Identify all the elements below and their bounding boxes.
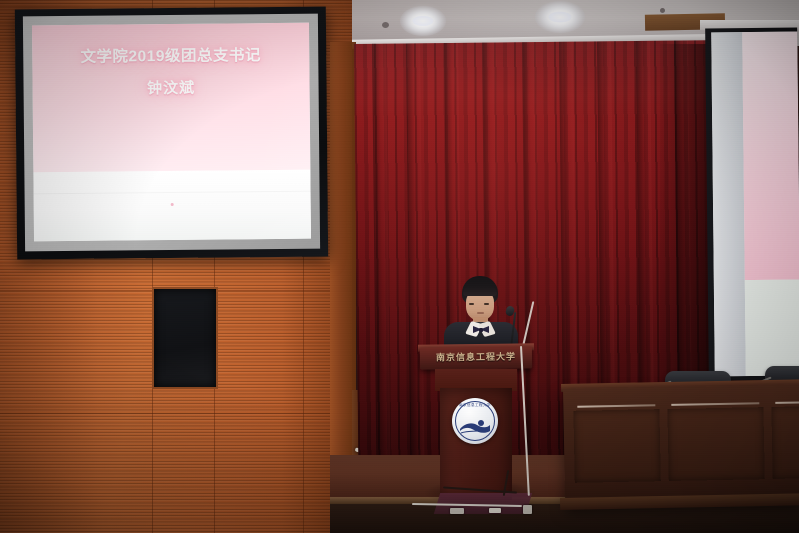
bench-panel (771, 405, 799, 479)
power-strip[interactable] (450, 508, 464, 514)
eye-right (484, 303, 489, 305)
auditorium-photo: 文学院2019级团总支书记 钟汶斌 (0, 0, 799, 533)
slide-text: 文学院2019级团总支书记 钟汶斌 (32, 46, 309, 99)
projection-screen-secondary (705, 28, 799, 381)
bench-panel (573, 409, 660, 483)
wall-access-panel (152, 287, 218, 389)
light-core (549, 12, 572, 23)
head-table-bench (563, 384, 799, 507)
slide-name-line: 钟汶斌 (32, 76, 309, 100)
screen-border-band (711, 32, 746, 376)
adapter-block[interactable] (489, 508, 501, 513)
slide-bottom-band-secondary (745, 279, 799, 376)
bow-tie (473, 326, 489, 333)
emblem-year: 1960 (478, 428, 486, 432)
hair-fringe (463, 286, 497, 296)
projection-screen-main: 文学院2019级团总支书记 钟汶斌 (15, 7, 328, 260)
slide-title-line: 文学院2019级团总支书记 (32, 46, 309, 67)
ceiling-light-right (535, 1, 585, 33)
emblem-wave-icon (459, 418, 491, 435)
slide-top-band-secondary (742, 32, 799, 280)
ceiling-light-left (400, 6, 446, 36)
emblem-arc-text: 南京信息工程大学 (452, 403, 498, 408)
screen-inner-frame: 文学院2019级团总支书记 钟汶斌 (23, 14, 320, 252)
ceiling-sensor (660, 8, 665, 13)
screen-surface: 文学院2019级团总支书记 钟汶斌 (32, 23, 311, 242)
mouth (477, 312, 484, 314)
eye-left (469, 303, 474, 305)
podium-institution-label: 南京信息工程大学 (424, 349, 528, 363)
light-core (412, 16, 433, 26)
university-emblem: 南京信息工程大学 1960 (452, 398, 498, 444)
plug-connector[interactable] (523, 505, 532, 514)
ceiling-sprinkler (382, 22, 389, 28)
bench-panel (667, 407, 764, 481)
podium-body: 南京信息工程大学 1960 (440, 388, 512, 500)
screen-surface-secondary (711, 32, 799, 377)
